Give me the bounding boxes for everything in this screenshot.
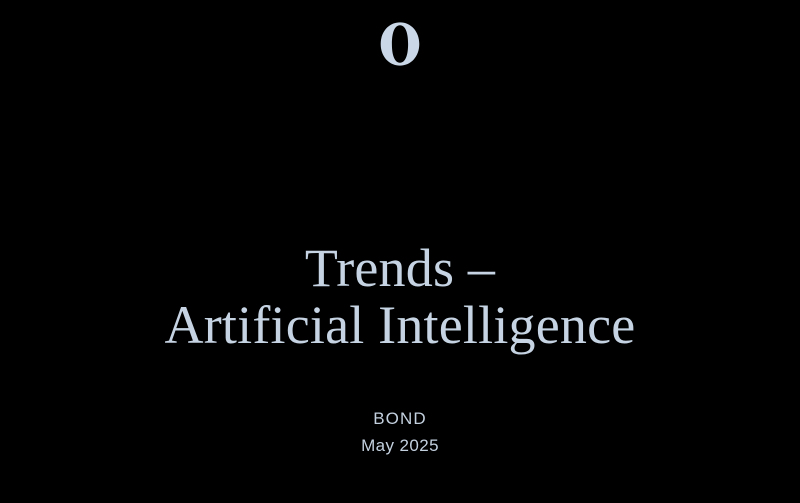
logo-container — [0, 18, 800, 70]
date-label: May 2025 — [0, 432, 800, 459]
bond-o-logo-icon — [378, 21, 422, 67]
page-title: Trends – Artificial Intelligence — [0, 240, 800, 354]
title-line-1: Trends – — [0, 240, 800, 297]
title-line-2: Artificial Intelligence — [0, 297, 800, 354]
title-slide: Trends – Artificial Intelligence BOND Ma… — [0, 0, 800, 503]
subtitle-group: BOND May 2025 — [0, 405, 800, 459]
organization-label: BOND — [0, 405, 800, 432]
